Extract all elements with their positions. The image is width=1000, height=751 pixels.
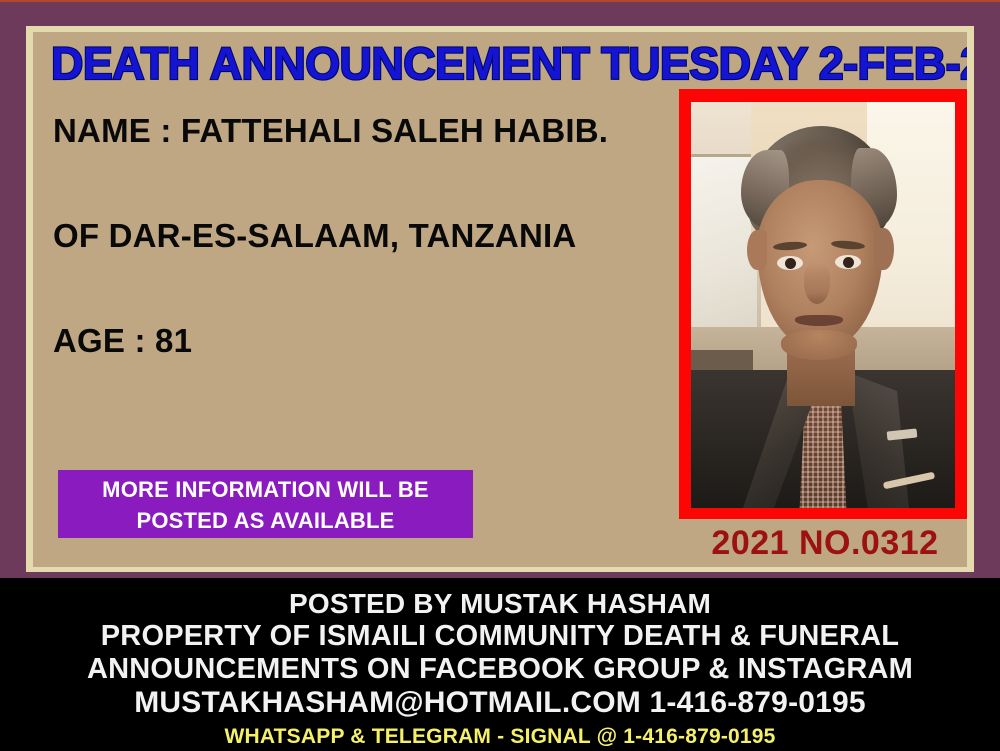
more-information-banner: MORE INFORMATION WILL BE POSTED AS AVAIL… (58, 470, 473, 538)
portrait-photo: DI (691, 102, 955, 508)
info-banner-line-2: POSTED AS AVAILABLE (136, 505, 394, 536)
deceased-name-line: NAME : FATTEHALI SALEH HABIB. (53, 112, 608, 150)
footer-posted-by: POSTED BY MUSTAK HASHAM (0, 588, 1000, 620)
portrait-eye-right (835, 255, 861, 269)
announcement-title: DEATH ANNOUNCEMENT TUESDAY 2-FEB-2021 (51, 38, 947, 90)
portrait-eye-left (777, 256, 803, 270)
portrait-photo-frame: DI (679, 89, 967, 519)
portrait-mouth (795, 315, 843, 326)
footer-email-phone: MUSTAKHASHAM@HOTMAIL.COM 1-416-879-0195 (0, 686, 1000, 720)
portrait-ear-right (874, 228, 894, 270)
deceased-place-line: OF DAR-ES-SALAAM, TANZANIA (53, 217, 576, 255)
footer-property-line: PROPERTY OF ISMAILI COMMUNITY DEATH & FU… (0, 620, 1000, 653)
footer-credit-block: POSTED BY MUSTAK HASHAM PROPERTY OF ISMA… (0, 578, 1000, 750)
info-banner-line-1: MORE INFORMATION WILL BE (102, 474, 429, 505)
footer-whatsapp-line: WHATSAPP & TELEGRAM - SIGNAL @ 1-416-879… (0, 723, 1000, 751)
portrait-chin (781, 330, 857, 360)
reference-number: 2021 NO.0312 (679, 524, 967, 563)
deceased-age-line: AGE : 81 (53, 322, 192, 360)
footer-announcements-line: ANNOUNCEMENTS ON FACEBOOK GROUP & INSTAG… (0, 653, 1000, 686)
portrait-ear-left (747, 230, 767, 270)
announcement-card: DEATH ANNOUNCEMENT TUESDAY 2-FEB-2021 NA… (33, 32, 967, 567)
death-announcement-poster: DEATH ANNOUNCEMENT TUESDAY 2-FEB-2021 NA… (0, 0, 1000, 750)
portrait-nose (804, 262, 830, 304)
